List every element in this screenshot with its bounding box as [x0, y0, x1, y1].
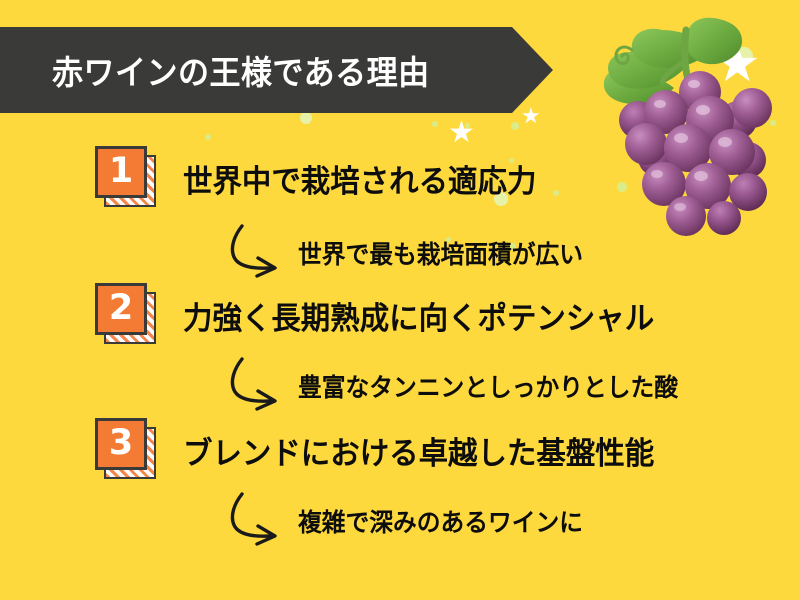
- list-item-2[interactable]: 2 力強く長期熟成に向くポテンシャル: [95, 283, 679, 347]
- item-subtext-2: 豊富なタンニンとしっかりとした酸: [298, 368, 678, 404]
- item-heading-3: ブレンドにおける卓越した基盤性能: [183, 428, 654, 473]
- badge-face: 3: [95, 418, 147, 470]
- curved-arrow-icon: [228, 492, 292, 550]
- item-subtext-3: 複雑で深みのあるワインに: [298, 503, 583, 539]
- list-subitem-3: 複雑で深みのあるワインに: [228, 492, 598, 550]
- number-badge-1: 1: [95, 146, 159, 210]
- curved-arrow-icon: [228, 357, 292, 415]
- curved-arrow-icon: [228, 224, 292, 282]
- badge-face: 2: [95, 283, 147, 335]
- badge-number: 1: [109, 154, 133, 189]
- number-badge-3: 3: [95, 418, 159, 482]
- number-badge-2: 2: [95, 283, 159, 347]
- badge-number: 3: [109, 426, 133, 461]
- badge-face: 1: [95, 146, 147, 198]
- content-rows: 1 世界中で栽培される適応力 世界で最も栽培面積が広い 2 力強く長: [0, 0, 800, 600]
- item-heading-1: 世界中で栽培される適応力: [183, 156, 536, 201]
- list-item-3[interactable]: 3 ブレンドにおける卓越した基盤性能: [95, 418, 679, 482]
- item-subtext-1: 世界で最も栽培面積が広い: [298, 235, 583, 271]
- list-subitem-1: 世界で最も栽培面積が広い: [228, 224, 598, 282]
- list-item-1[interactable]: 1 世界中で栽培される適応力: [95, 146, 555, 210]
- badge-number: 2: [109, 291, 133, 326]
- list-subitem-2: 豊富なタンニンとしっかりとした酸: [228, 357, 698, 415]
- slide-canvas: ★★★: [0, 0, 800, 600]
- item-heading-2: 力強く長期熟成に向くポテンシャル: [183, 293, 654, 338]
